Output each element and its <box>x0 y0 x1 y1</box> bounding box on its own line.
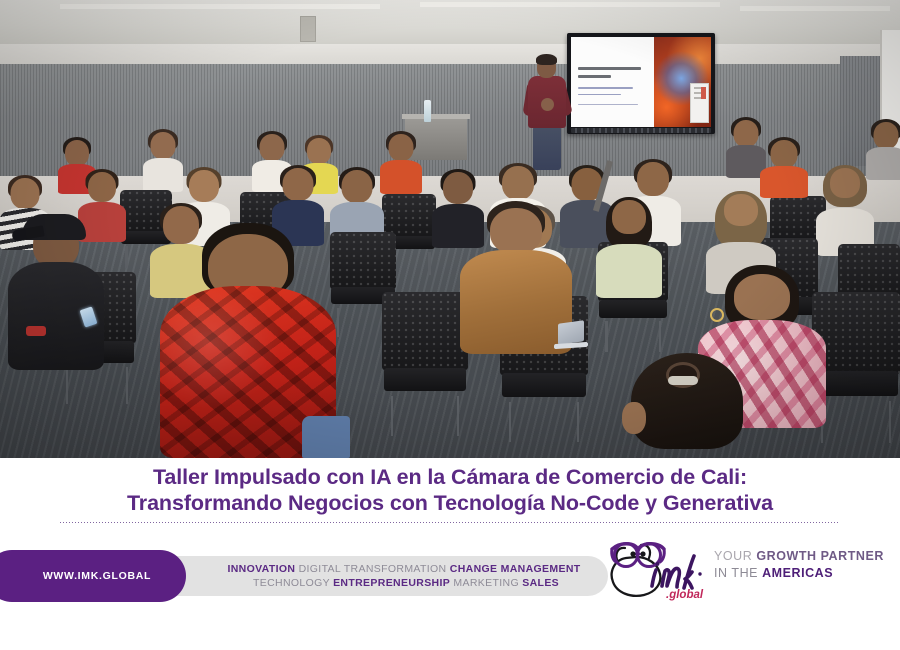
event-announcement-card: Taller Impulsado con IA en la Cámara de … <box>0 0 900 650</box>
keyword-innovation: INNOVATION <box>227 563 295 575</box>
brand-tagline: YOUR GROWTH PARTNER IN THE AMERICAS <box>714 548 889 582</box>
event-title-line-1: Taller Impulsado con IA en la Cámara de … <box>0 464 900 490</box>
tagline-your: YOUR <box>714 549 756 563</box>
website-url-pill[interactable]: WWW.IMK.GLOBAL <box>0 550 186 602</box>
website-url-label: WWW.IMK.GLOBAL <box>21 570 151 582</box>
tagline-line-1: YOUR GROWTH PARTNER <box>714 548 889 565</box>
event-title-line-2: Transformando Negocios con Tecnología No… <box>0 490 900 516</box>
owl-glasses-logo-icon: .global <box>604 536 708 602</box>
tagline-growth-partner: GROWTH PARTNER <box>756 549 884 563</box>
keyword-marketing: MARKETING <box>453 577 519 589</box>
tagline-americas: AMERICAS <box>762 566 833 580</box>
event-title: Taller Impulsado con IA en la Cámara de … <box>0 464 900 516</box>
event-photo <box>0 0 900 458</box>
keyword-line-1: INNOVATION DIGITAL TRANSFORMATION CHANGE… <box>135 562 580 576</box>
keyword-sales: SALES <box>522 577 559 589</box>
keyword-technology: TECHNOLOGY <box>253 577 330 589</box>
logo-domain-text: .global <box>666 589 704 601</box>
keyword-line-2: TECHNOLOGY ENTREPRENEURSHIP MARKETING SA… <box>157 576 559 590</box>
keyword-change-management: CHANGE MANAGEMENT <box>450 563 581 575</box>
imk-global-logo[interactable]: .global <box>604 536 708 602</box>
tagline-in-the: IN THE <box>714 566 762 580</box>
photo-vignette <box>0 0 900 458</box>
keyword-digital-transformation: DIGITAL TRANSFORMATION <box>299 563 447 575</box>
divider <box>60 522 840 523</box>
tagline-line-2: IN THE AMERICAS <box>714 565 889 582</box>
keyword-entrepreneurship: ENTREPRENEURSHIP <box>333 577 450 589</box>
